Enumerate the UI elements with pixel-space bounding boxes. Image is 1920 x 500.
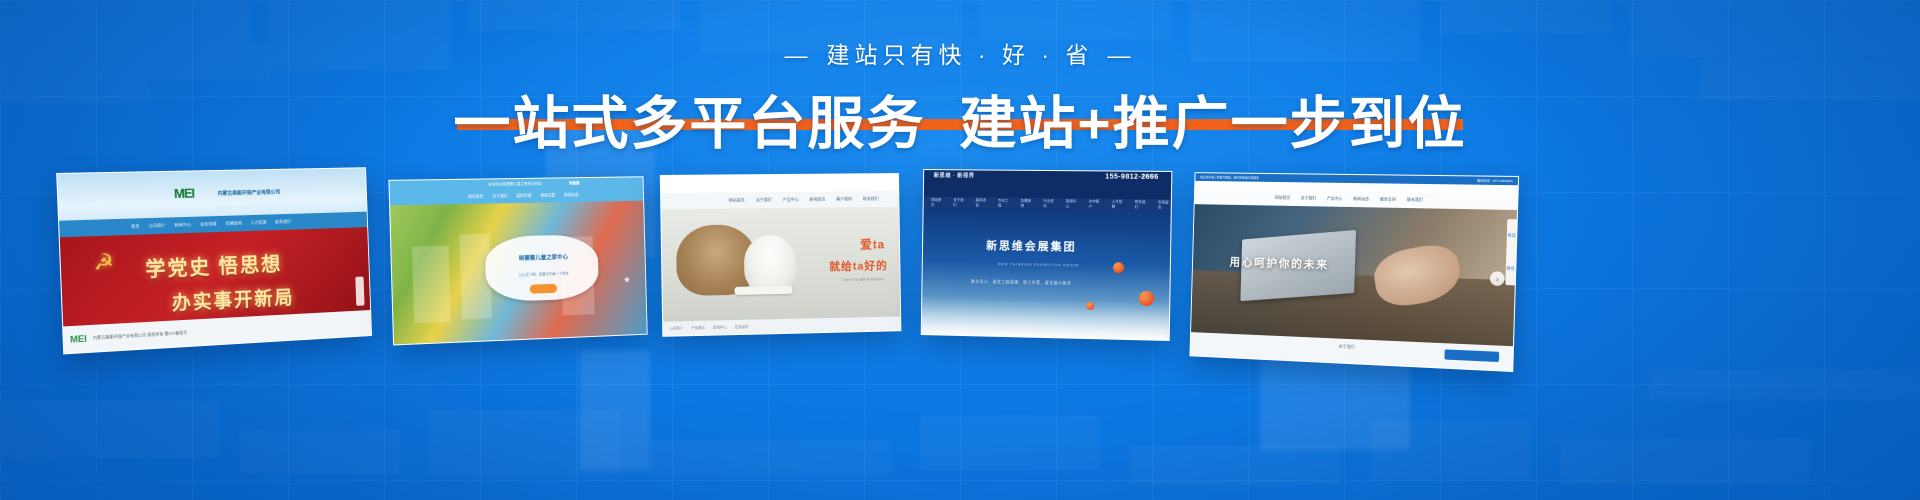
card5-nav-item[interactable]: 服务支持 [1380, 197, 1396, 203]
wechat-icon[interactable]: 微信 [1506, 266, 1515, 272]
card1-banner-line2: 办实事开新局 [171, 282, 294, 315]
hero-subtitle-text: 建站只有快 · 好 · 省 [827, 42, 1094, 68]
card1-nav-item[interactable]: 首页 [131, 223, 140, 229]
hero-subtitle: —建站只有快 · 好 · 省— [0, 44, 1920, 67]
card1-logo: MEI [174, 185, 195, 201]
card4-banner: 新思维会展集团 NEW THINKING EXHIBITION GROUP 展台… [922, 209, 1171, 340]
card3-nav-item[interactable]: 客户案例 [836, 197, 852, 203]
dash-right-icon: — [1107, 44, 1135, 67]
building-shape [412, 246, 451, 323]
card5-banner: 用心呵护你的未来 › [1191, 204, 1517, 346]
screenshot-gallery: MEI 内蒙古美能环保产业有限公司 首页 公司简介 新闻中心 业务领域 党建园地… [0, 160, 1920, 375]
card-content: 新思维 · 新视界 服务热线 155-9812-2666 网站首页 关于我们 服… [922, 170, 1172, 340]
card2-cloud-title: 晓蕾蕾儿童之家中心 [499, 252, 587, 262]
card2-cloud-sub: 让心灵飞翔，用爱守护每一个童年 [500, 269, 588, 277]
card2-nav-item[interactable]: 园所环境 [516, 194, 531, 199]
card3-footer-item[interactable]: 产品展示 [691, 325, 705, 330]
card2-cloud-button[interactable] [530, 284, 557, 294]
cat-photo [744, 235, 797, 293]
card4-nav-item[interactable]: 专业工程 [998, 198, 1011, 208]
hero-headline: 一站式多平台服务建站+推广一步到位 [453, 91, 1466, 157]
hero-text: —建站只有快 · 好 · 省— 一站式多平台服务建站+推广一步到位 [0, 44, 1920, 157]
card1-footer-text: 内蒙古美能环保产业有限公司 版权所有 蒙ICP备案号 [93, 330, 187, 341]
phone-icon[interactable]: 电话 [1507, 233, 1516, 239]
city-skyline-shape [922, 296, 1170, 340]
headline-left: 一站式多平台服务 [453, 92, 925, 156]
card5-slogan: 用心呵护你的未来 [1229, 254, 1329, 273]
card2-logo: 晓蕾蕾 [569, 182, 580, 186]
card4-header: 新思维 · 新视界 服务热线 155-9812-2666 [924, 170, 1172, 199]
card4-nav-item[interactable]: 服务项目 [975, 198, 988, 208]
card3-nav-item[interactable]: 关于我们 [756, 197, 772, 203]
card4-logo: 新思维 · 新视界 [934, 171, 975, 179]
card5-side-rail[interactable]: 电话 微信 [1505, 220, 1516, 286]
card4-nav-item[interactable]: 网站首页 [931, 198, 944, 208]
card2-nav[interactable]: 网站首页 关于我们 园所环境 课程设置 新闻动态 [468, 193, 579, 200]
card4-title: 新思维会展集团 [986, 237, 1077, 254]
card3-nav-item[interactable]: 新闻资讯 [810, 197, 826, 203]
card2-nav-item[interactable]: 网站首页 [468, 194, 483, 199]
card5-topbar-left: 欢迎访问本公司官方网站，我们将竭诚为您服务 [1200, 175, 1259, 180]
card1-nav-item[interactable]: 公司简介 [148, 222, 165, 229]
card3-footer-item[interactable]: 在线留言 [735, 324, 749, 329]
card5-nav-item[interactable]: 网站首页 [1275, 195, 1290, 201]
card2-nav-item[interactable]: 关于我们 [492, 194, 507, 199]
card5-footer-button[interactable] [1445, 349, 1499, 362]
card4-nav-item[interactable]: 合作客户 [1089, 199, 1102, 209]
card3-nav-item[interactable]: 产品中心 [783, 197, 799, 203]
site-screenshot-card-exhibition[interactable]: 新思维 · 新视界 服务热线 155-9812-2666 网站首页 关于我们 服… [921, 169, 1173, 341]
card4-nav-item[interactable]: 关于我们 [953, 198, 966, 208]
card1-side-widget[interactable] [355, 277, 364, 306]
card4-nav-item[interactable]: 在线留言 [1158, 200, 1171, 210]
card4-nav-item[interactable]: 人才招聘 [1112, 199, 1125, 209]
party-emblem-icon: ☭ [93, 249, 114, 276]
card1-nav-item[interactable]: 人力资源 [250, 219, 266, 225]
card3-footer-item[interactable]: 新闻中心 [713, 325, 727, 330]
card3-slogan-line2: 就给ta好的 [829, 257, 888, 274]
site-screenshot-card-kindergarten[interactable]: 欢迎访问晓蕾蕾儿童之家官方网站 晓蕾蕾 网站首页 关于我们 园所环境 课程设置 … [388, 176, 647, 345]
card3-slogan-en: Love is to give it the best [842, 277, 883, 282]
card4-title-en: NEW THINKING EXHIBITION GROUP [998, 263, 1079, 268]
card3-footer-item[interactable]: 公司简介 [669, 326, 683, 331]
card5-topbar-right: 服务热线：0471-6930025 [1477, 179, 1513, 184]
card4-desc: 展台设计、展览工程搭建、施工布置、展览展示服务 [971, 280, 1071, 287]
card5-nav-item[interactable]: 关于我们 [1301, 196, 1317, 202]
card-content: MEI 内蒙古美能环保产业有限公司 首页 公司简介 新闻中心 业务领域 党建园地… [57, 168, 371, 353]
card1-nav-item[interactable]: 业务领域 [200, 221, 217, 228]
card5-nav-item[interactable]: 产品中心 [1327, 196, 1343, 202]
card5-nav-item[interactable]: 联系我们 [1407, 197, 1423, 203]
hero-banner: —建站只有快 · 好 · 省— 一站式多平台服务建站+推广一步到位 MEI 内蒙… [0, 0, 1920, 500]
site-screenshot-card-party-gov[interactable]: MEI 内蒙古美能环保产业有限公司 首页 公司简介 新闻中心 业务领域 党建园地… [56, 167, 372, 354]
pet-bowl-shape [735, 285, 792, 295]
card1-nav-item[interactable]: 党建园地 [225, 220, 242, 226]
card1-nav-item[interactable]: 联系我们 [275, 219, 291, 225]
card-content: 宠物用品有限公司 网站首页 关于我们 产品中心 新闻资讯 客户案例 联系我们 爱… [661, 174, 901, 336]
card2-banner: 晓蕾蕾儿童之家中心 让心灵飞翔，用爱守护每一个童年 ★ [390, 201, 647, 345]
card4-nav-item[interactable]: 新闻中心 [1066, 199, 1079, 209]
hero-headline-row: 一站式多平台服务建站+推广一步到位 [453, 91, 1466, 157]
headline-right: 建站+推广一步到位 [959, 92, 1466, 156]
card3-banner: 爱ta 就给ta好的 Love is to give it the best [661, 207, 900, 322]
card1-banner-line1: 学党史 悟思想 [145, 247, 283, 282]
card5-nav-item[interactable]: 新闻动态 [1353, 196, 1369, 202]
card-content: 欢迎访问晓蕾蕾儿童之家官方网站 晓蕾蕾 网站首页 关于我们 园所环境 课程设置 … [389, 177, 646, 344]
card2-nav-item[interactable]: 新闻动态 [564, 193, 579, 198]
card3-nav-item[interactable]: 联系我们 [863, 196, 879, 202]
card3-nav-item[interactable]: 网站首页 [729, 198, 745, 204]
card4-nav-item[interactable]: 行业资讯 [1043, 199, 1056, 209]
star-icon: ★ [623, 274, 631, 285]
balloon-shape [1113, 262, 1124, 273]
card2-top-text: 欢迎访问晓蕾蕾儿童之家官方网站 [488, 183, 541, 188]
balloon-shape [1139, 291, 1154, 306]
card2-cloud-callout: 晓蕾蕾儿童之家中心 让心灵飞翔，用爱守护每一个童年 [485, 234, 600, 302]
card3-slogan-line1: 爱ta [860, 235, 885, 252]
card4-nav-item[interactable]: 会展案例 [1020, 199, 1033, 209]
card-content: 欢迎访问本公司官方网站，我们将竭诚为您服务 服务热线：0471-6930025 … [1190, 173, 1518, 371]
site-screenshot-card-office-care[interactable]: 欢迎访问本公司官方网站，我们将竭诚为您服务 服务热线：0471-6930025 … [1189, 172, 1519, 372]
card1-footer-logo: MEI [70, 333, 87, 344]
card4-tel-number: 155-9812-2666 [1105, 173, 1158, 180]
card2-nav-item[interactable]: 课程设置 [540, 193, 555, 198]
dash-left-icon: — [785, 44, 813, 67]
card4-nav-item[interactable]: 联系我们 [1135, 200, 1148, 210]
card1-nav-item[interactable]: 新闻中心 [174, 222, 191, 229]
site-screenshot-card-pet[interactable]: 宠物用品有限公司 网站首页 关于我们 产品中心 新闻资讯 客户案例 联系我们 爱… [660, 173, 902, 337]
